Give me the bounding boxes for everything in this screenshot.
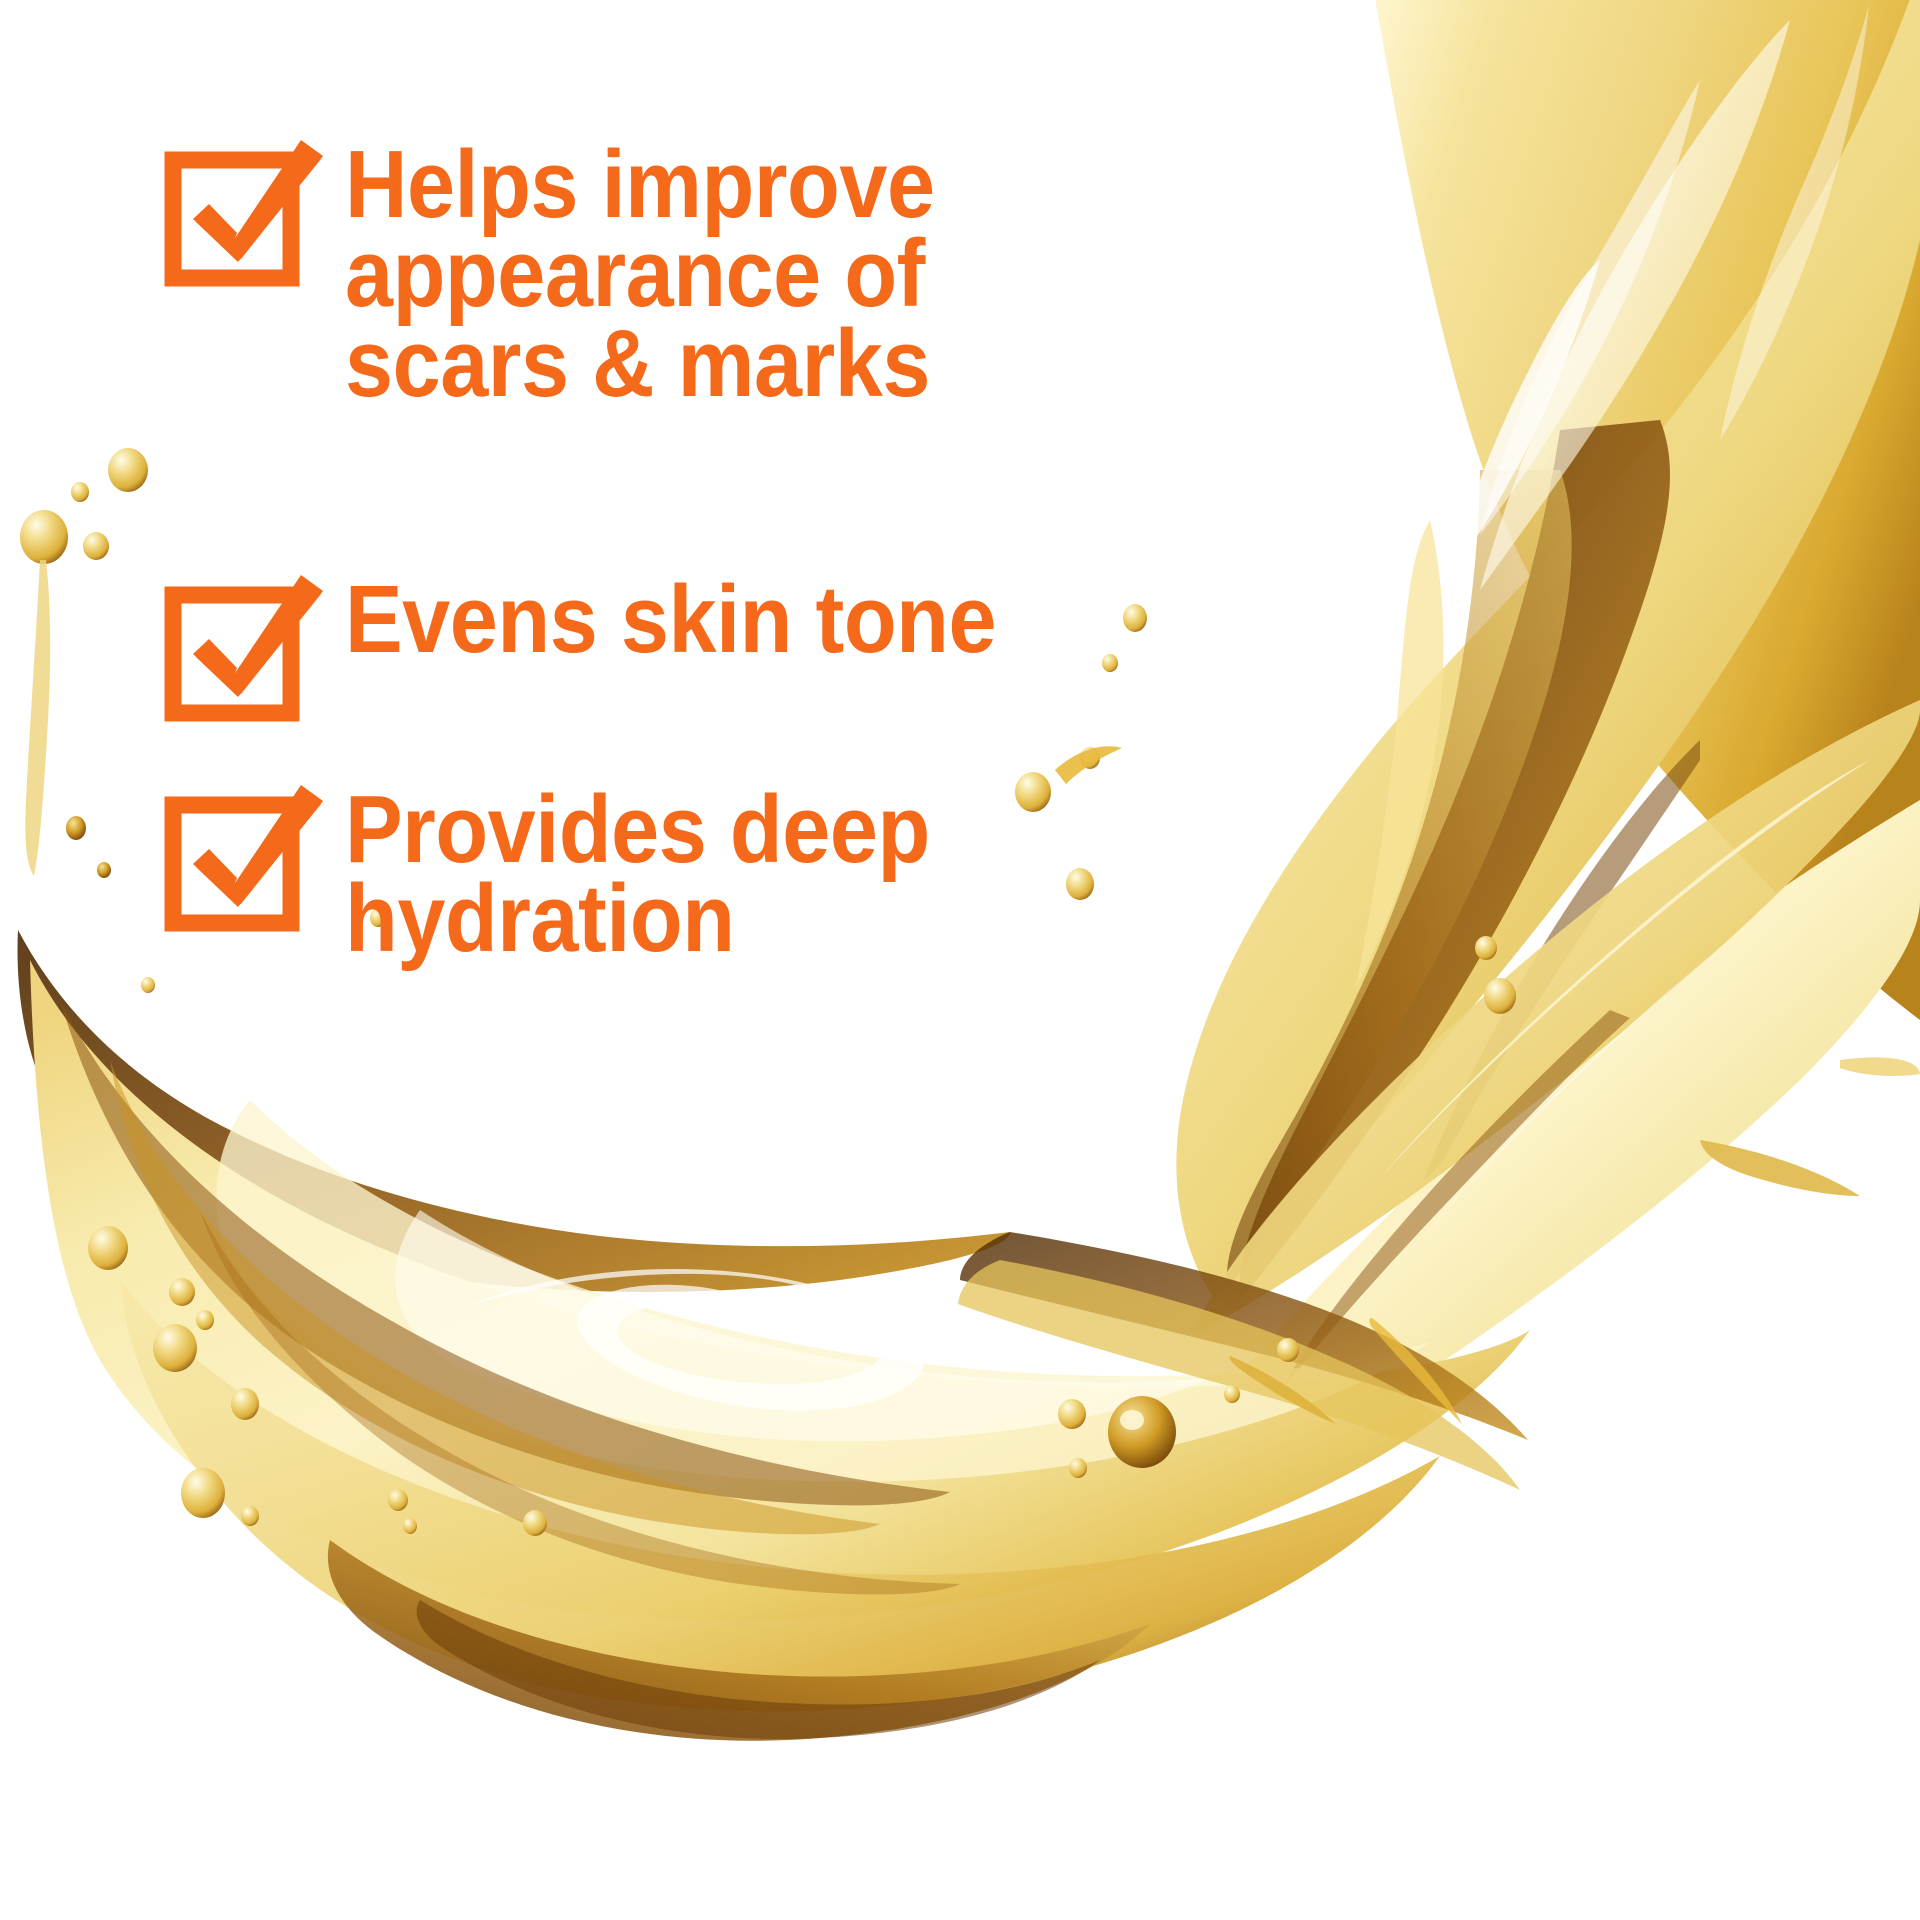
benefit-label: Evens skin tone bbox=[345, 553, 996, 664]
checked-checkbox-icon bbox=[163, 561, 335, 733]
benefit-label: Provides deep hydration bbox=[345, 763, 930, 964]
benefits-infographic: Helps improve appearance of scars & mark… bbox=[0, 0, 1920, 1920]
checked-checkbox-icon bbox=[163, 126, 335, 298]
oil-ribbon-mid bbox=[1125, 700, 1920, 1548]
benefit-label: Helps improve appearance of scars & mark… bbox=[345, 118, 935, 408]
oil-connector-band bbox=[958, 1232, 1528, 1490]
benefit-item-even-tone: Evens skin tone bbox=[163, 553, 1068, 733]
benefit-item-hydration: Provides deep hydration bbox=[163, 763, 995, 964]
oil-ribbon-upper bbox=[1176, 0, 1920, 1300]
benefit-item-scars-marks: Helps improve appearance of scars & mark… bbox=[163, 118, 1000, 408]
checked-checkbox-icon bbox=[163, 771, 335, 943]
oil-sheet-lower bbox=[18, 930, 1530, 1741]
